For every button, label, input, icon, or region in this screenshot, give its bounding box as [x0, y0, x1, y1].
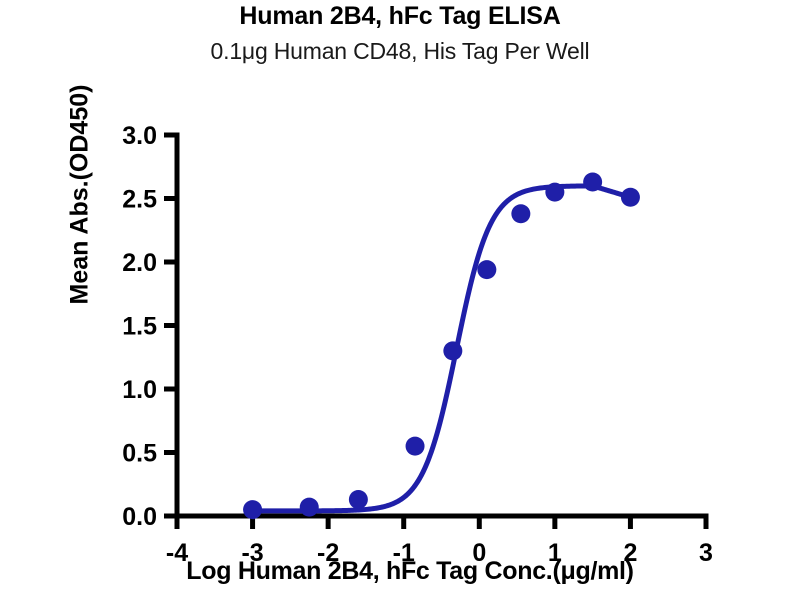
plot-area: 0.00.51.01.52.02.53.0 -4-3-2-10123 [0, 0, 800, 600]
y-tick-label: 0.5 [122, 440, 157, 468]
y-tick-label: 2.0 [122, 249, 157, 277]
data-point [443, 341, 462, 360]
data-point [621, 188, 640, 207]
x-tick-label: -1 [393, 539, 415, 567]
data-point [511, 204, 530, 223]
data-point [243, 500, 262, 519]
x-tick-label: -3 [241, 539, 263, 567]
x-axis-ticks: -4-3-2-10123 [166, 516, 713, 567]
y-tick-label: 3.0 [122, 122, 157, 150]
x-tick-label: 1 [548, 539, 562, 567]
data-point [349, 490, 368, 509]
y-axis-ticks: 0.00.51.01.52.02.53.0 [122, 122, 177, 531]
y-tick-label: 1.5 [122, 313, 157, 341]
x-tick-label: 2 [623, 539, 637, 567]
y-tick-label: 2.5 [122, 186, 157, 214]
fit-curve [253, 186, 631, 511]
x-tick-label: 3 [699, 539, 713, 567]
data-point [477, 260, 496, 279]
data-point [583, 172, 602, 191]
data-point [406, 437, 425, 456]
y-tick-label: 1.0 [122, 376, 157, 404]
data-points [243, 172, 640, 519]
x-tick-label: -4 [166, 539, 188, 567]
data-point [300, 498, 319, 517]
x-tick-label: 0 [472, 539, 486, 567]
x-tick-label: -2 [317, 539, 339, 567]
data-point [545, 183, 564, 202]
y-tick-label: 0.0 [122, 503, 157, 531]
chart-figure: Human 2B4, hFc Tag ELISA 0.1μg Human CD4… [0, 0, 800, 600]
fit-curve-path [253, 186, 631, 511]
